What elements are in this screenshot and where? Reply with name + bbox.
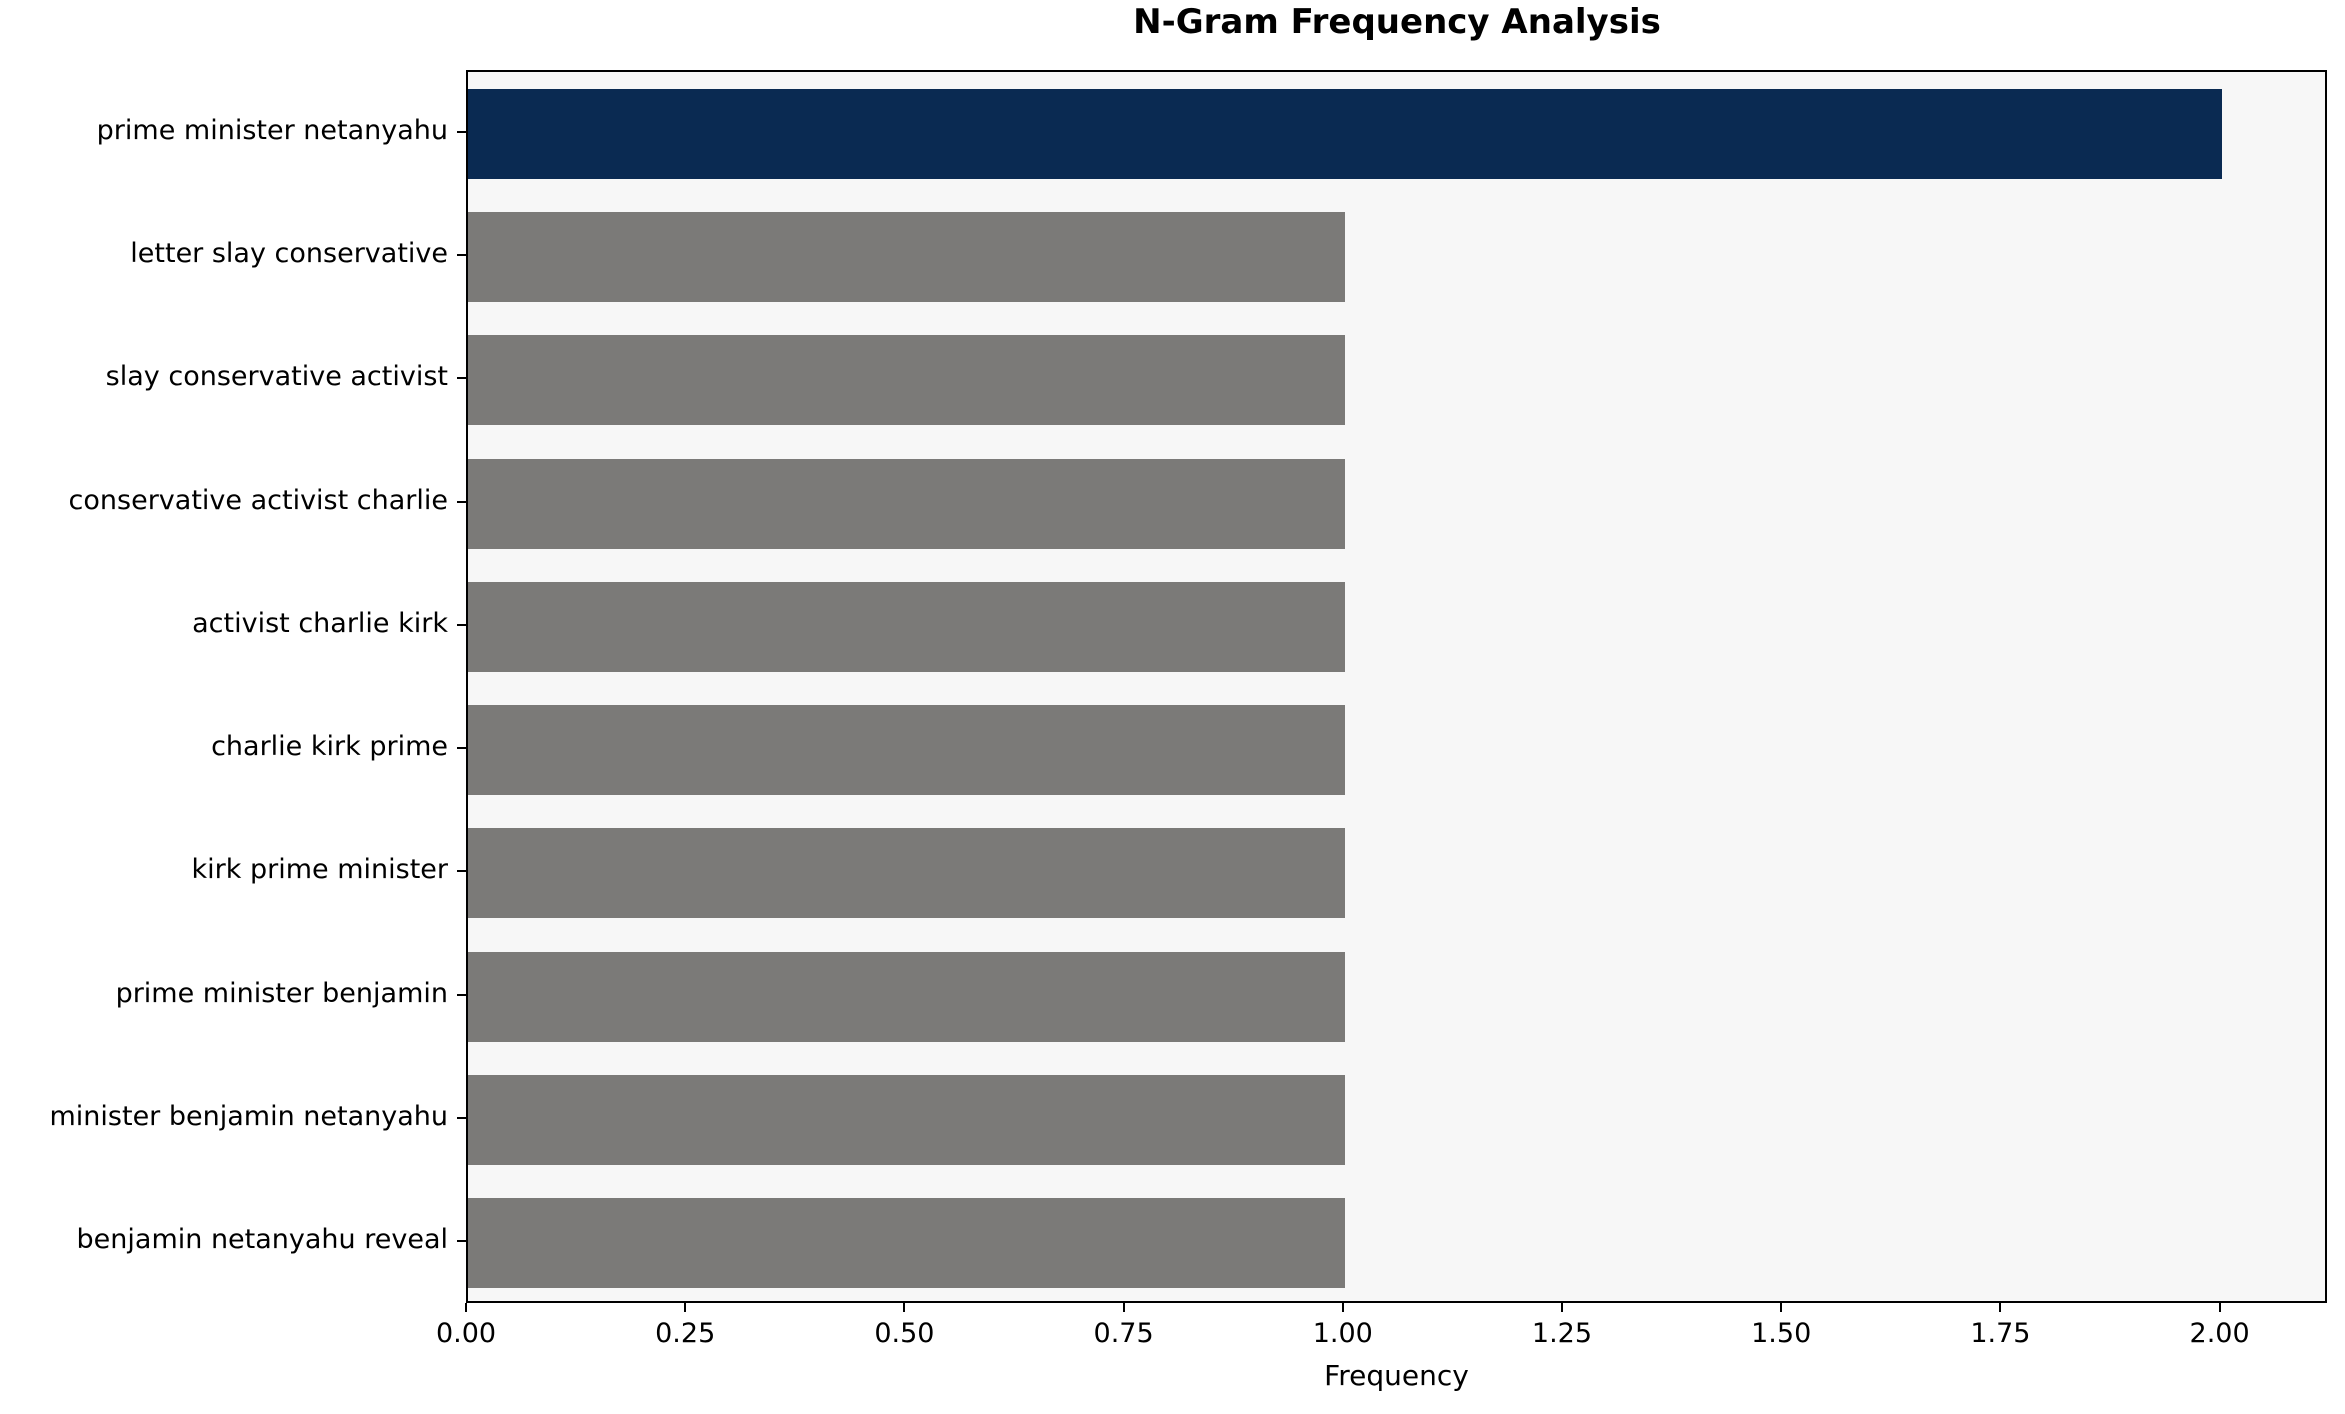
y-tick-label: activist charlie kirk: [192, 609, 448, 639]
y-tick-mark: [457, 501, 466, 503]
y-tick-mark: [457, 994, 466, 996]
bar: [468, 705, 1345, 795]
ngram-frequency-chart-figure: N-Gram Frequency Analysis prime minister…: [0, 0, 2345, 1414]
x-tick-label: 0.75: [1059, 1318, 1189, 1350]
bar: [468, 212, 1345, 302]
x-tick-mark: [1999, 1303, 2001, 1312]
x-tick-mark: [903, 1303, 905, 1312]
y-tick-label: letter slay conservative: [130, 239, 448, 269]
y-tick-mark: [457, 747, 466, 749]
bar: [468, 1198, 1345, 1288]
y-tick-label: minister benjamin netanyahu: [50, 1102, 449, 1132]
x-tick-label: 0.50: [839, 1318, 969, 1350]
x-tick-label: 1.50: [1716, 1318, 1846, 1350]
x-tick-label: 1.00: [1278, 1318, 1408, 1350]
x-tick-mark: [465, 1303, 467, 1312]
x-tick-mark: [1561, 1303, 1563, 1312]
bars-container: [468, 72, 2325, 1301]
y-tick-mark: [457, 1117, 466, 1119]
bar: [468, 828, 1345, 918]
y-tick-mark: [457, 131, 466, 133]
y-tick-label: benjamin netanyahu reveal: [77, 1225, 448, 1255]
plot-area: [466, 70, 2327, 1303]
x-axis-label: Frequency: [466, 1360, 2327, 1392]
x-tick-label: 2.00: [2155, 1318, 2285, 1350]
x-tick-label: 0.25: [620, 1318, 750, 1350]
y-tick-label: charlie kirk prime: [211, 732, 448, 762]
y-tick-mark: [457, 870, 466, 872]
y-tick-label: prime minister benjamin: [116, 979, 448, 1009]
bar: [468, 89, 2222, 179]
y-tick-mark: [457, 254, 466, 256]
x-tick-mark: [2219, 1303, 2221, 1312]
x-tick-mark: [1123, 1303, 1125, 1312]
x-tick-mark: [684, 1303, 686, 1312]
y-tick-label: kirk prime minister: [192, 855, 448, 885]
x-tick-label: 0.00: [401, 1318, 531, 1350]
bar: [468, 459, 1345, 549]
bar: [468, 582, 1345, 672]
y-tick-mark: [457, 1240, 466, 1242]
y-tick-label: prime minister netanyahu: [97, 116, 448, 146]
y-tick-mark: [457, 624, 466, 626]
x-tick-label: 1.75: [1935, 1318, 2065, 1350]
y-tick-label: conservative activist charlie: [69, 486, 448, 516]
x-tick-mark: [1342, 1303, 1344, 1312]
y-tick-mark: [457, 377, 466, 379]
y-tick-label: slay conservative activist: [106, 362, 448, 392]
bar: [468, 1075, 1345, 1165]
x-tick-label: 1.25: [1497, 1318, 1627, 1350]
x-tick-mark: [1780, 1303, 1782, 1312]
chart-title: N-Gram Frequency Analysis: [466, 2, 2328, 42]
bar: [468, 335, 1345, 425]
bar: [468, 952, 1345, 1042]
